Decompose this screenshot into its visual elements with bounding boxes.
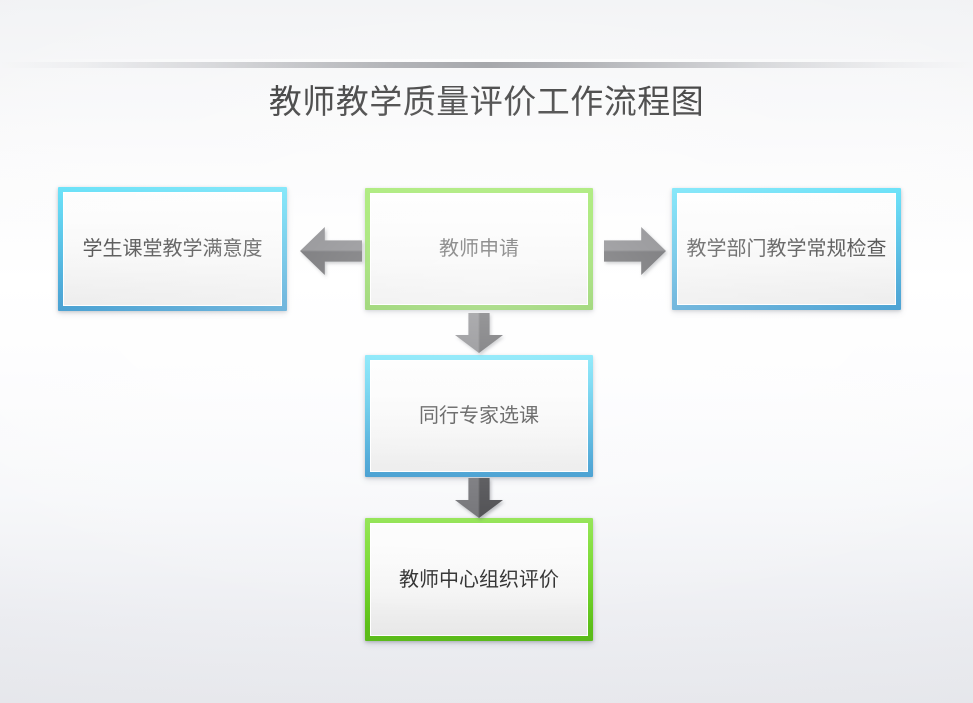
flow-node-department-inspection[interactable]: 教学部门教学常规检查 bbox=[672, 188, 901, 310]
flow-node-label: 教师申请 bbox=[439, 236, 519, 262]
flow-node-body: 教师中心组织评价 bbox=[370, 523, 588, 636]
page-title: 教师教学质量评价工作流程图 bbox=[0, 80, 973, 124]
arrow-down-2-icon bbox=[455, 478, 503, 518]
flow-node-body: 教学部门教学常规检查 bbox=[677, 193, 896, 305]
arrow-down-1-icon bbox=[455, 313, 503, 353]
flow-node-body: 教师申请 bbox=[370, 193, 588, 305]
arrow-left-icon bbox=[300, 227, 362, 275]
flow-node-body: 同行专家选课 bbox=[370, 360, 588, 472]
arrow-right-icon bbox=[604, 227, 666, 275]
flow-node-label: 学生课堂教学满意度 bbox=[83, 236, 263, 262]
flow-node-teacher-application[interactable]: 教师申请 bbox=[365, 188, 593, 310]
flow-node-student-satisfaction[interactable]: 学生课堂教学满意度 bbox=[58, 187, 287, 311]
header-divider bbox=[0, 62, 973, 68]
flow-node-body: 学生课堂教学满意度 bbox=[63, 192, 282, 306]
flow-node-label: 教学部门教学常规检查 bbox=[687, 236, 887, 262]
slide-canvas: 教师教学质量评价工作流程图 学生课堂教学满意度教师申请教学部门教学常规检查同行专… bbox=[0, 0, 973, 703]
flow-node-peer-expert-course-selection[interactable]: 同行专家选课 bbox=[365, 355, 593, 477]
flow-node-teacher-center-evaluation[interactable]: 教师中心组织评价 bbox=[365, 518, 593, 641]
flow-node-label: 教师中心组织评价 bbox=[399, 567, 559, 593]
flow-node-label: 同行专家选课 bbox=[419, 403, 539, 429]
